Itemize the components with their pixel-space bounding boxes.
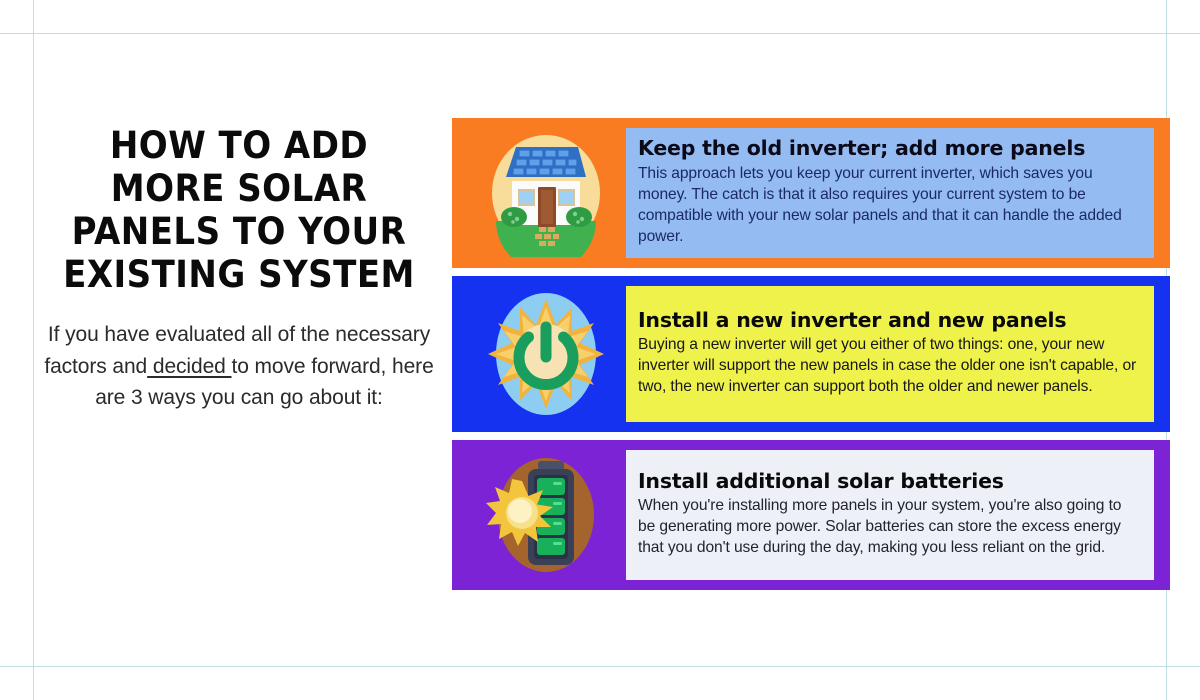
solar-battery-icon: [466, 451, 626, 579]
option-card-panel: Keep the old inverter; add more panels T…: [626, 128, 1154, 258]
page-title: How to Add More Solar Panels to Your Exi…: [49, 125, 428, 297]
option-card-title: Install a new inverter and new panels: [638, 309, 1140, 333]
decided-link[interactable]: decided: [147, 355, 231, 378]
sun-power-button-icon: [466, 287, 626, 421]
option-card-panel: Install a new inverter and new panels Bu…: [626, 286, 1154, 422]
intro-paragraph: If you have evaluated all of the necessa…: [33, 319, 445, 415]
intro-column: How to Add More Solar Panels to Your Exi…: [33, 125, 445, 414]
option-card-list: Keep the old inverter; add more panels T…: [452, 118, 1170, 598]
option-card-body: Buying a new inverter will get you eithe…: [638, 334, 1140, 397]
option-card-panel: Install additional solar batteries When …: [626, 450, 1154, 580]
option-card-body: This approach lets you keep your current…: [638, 163, 1140, 247]
option-card-keep-old-inverter[interactable]: Keep the old inverter; add more panels T…: [452, 118, 1170, 268]
option-card-title: Install additional solar batteries: [638, 470, 1140, 494]
option-card-title: Keep the old inverter; add more panels: [638, 137, 1140, 161]
option-card-solar-batteries[interactable]: Install additional solar batteries When …: [452, 440, 1170, 590]
canvas-guide-bottom: [0, 666, 1200, 667]
canvas-guide-top: [0, 33, 1200, 34]
option-card-new-inverter[interactable]: Install a new inverter and new panels Bu…: [452, 276, 1170, 432]
house-with-solar-panels-icon: [466, 129, 626, 257]
option-card-body: When you're installing more panels in yo…: [638, 495, 1140, 558]
